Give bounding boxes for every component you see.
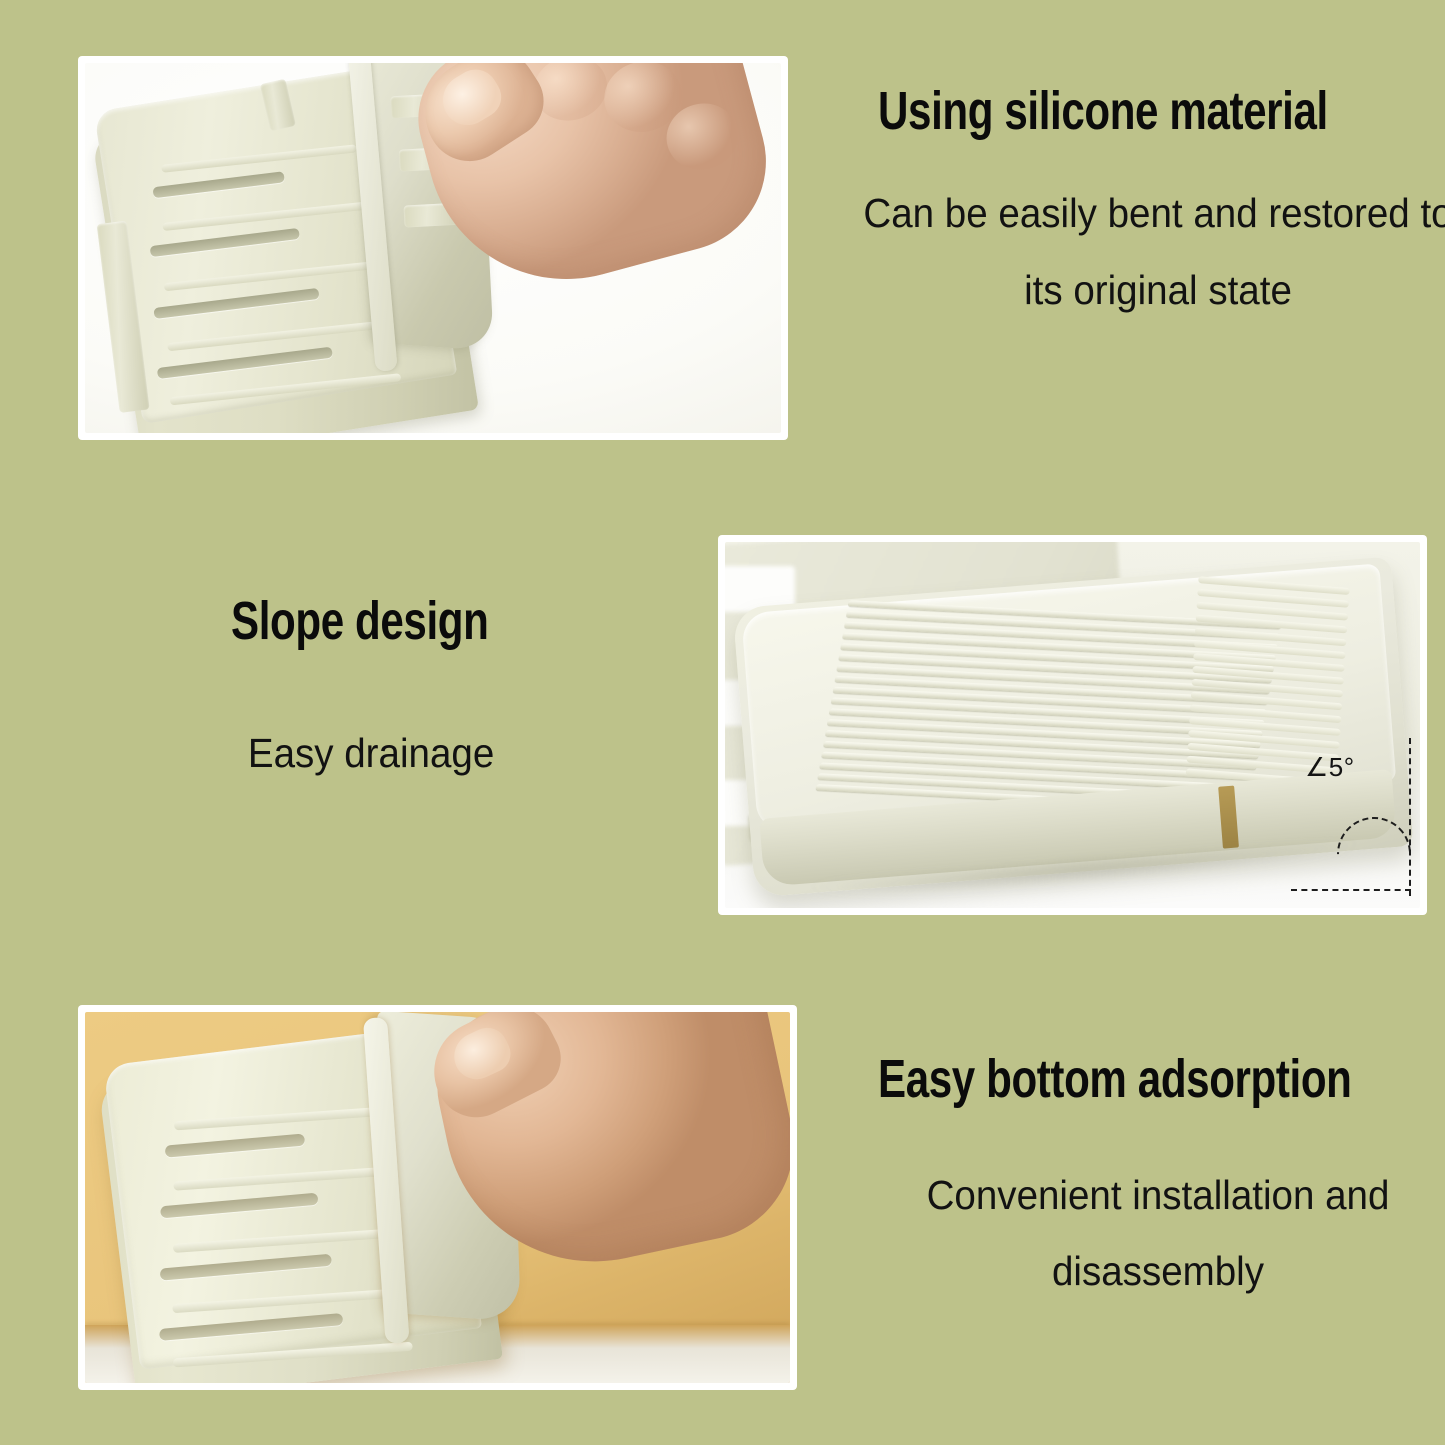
feature-body-line: its original state bbox=[837, 269, 1445, 312]
feature-body-line: Easy drainage bbox=[248, 732, 494, 775]
infographic-canvas: Using silicone material Can be easily be… bbox=[0, 0, 1445, 1445]
feature-body-line: disassembly bbox=[840, 1250, 1445, 1293]
feature-heading: Using silicone material bbox=[878, 84, 1315, 138]
feature-text-silicone-material: Using silicone material Can be easily be… bbox=[878, 84, 1438, 138]
feature-body-line: Convenient installation and bbox=[840, 1174, 1445, 1217]
feature-photo-silicone-material bbox=[78, 56, 788, 440]
angle-label: ∠5° bbox=[1305, 752, 1355, 783]
feature-body-line: Can be easily bent and restored to bbox=[837, 192, 1445, 235]
callout-horizontal-dashed-line bbox=[1291, 889, 1411, 891]
feature-heading: Slope design bbox=[231, 594, 637, 648]
angle-callout: ∠5° bbox=[1291, 738, 1417, 898]
feature-text-slope-design: Slope design Easy drainage bbox=[231, 594, 751, 648]
silicone-tray-product bbox=[87, 63, 569, 433]
feature-photo-bottom-adsorption bbox=[78, 1005, 797, 1390]
feature-photo-slope-design: ∠5° bbox=[718, 535, 1427, 915]
feature-text-bottom-adsorption: Easy bottom adsorption Convenient instal… bbox=[878, 1052, 1438, 1106]
silicone-tray-product bbox=[95, 1012, 604, 1383]
callout-vertical-dashed-line bbox=[1409, 738, 1411, 896]
feature-heading: Easy bottom adsorption bbox=[878, 1052, 1315, 1106]
